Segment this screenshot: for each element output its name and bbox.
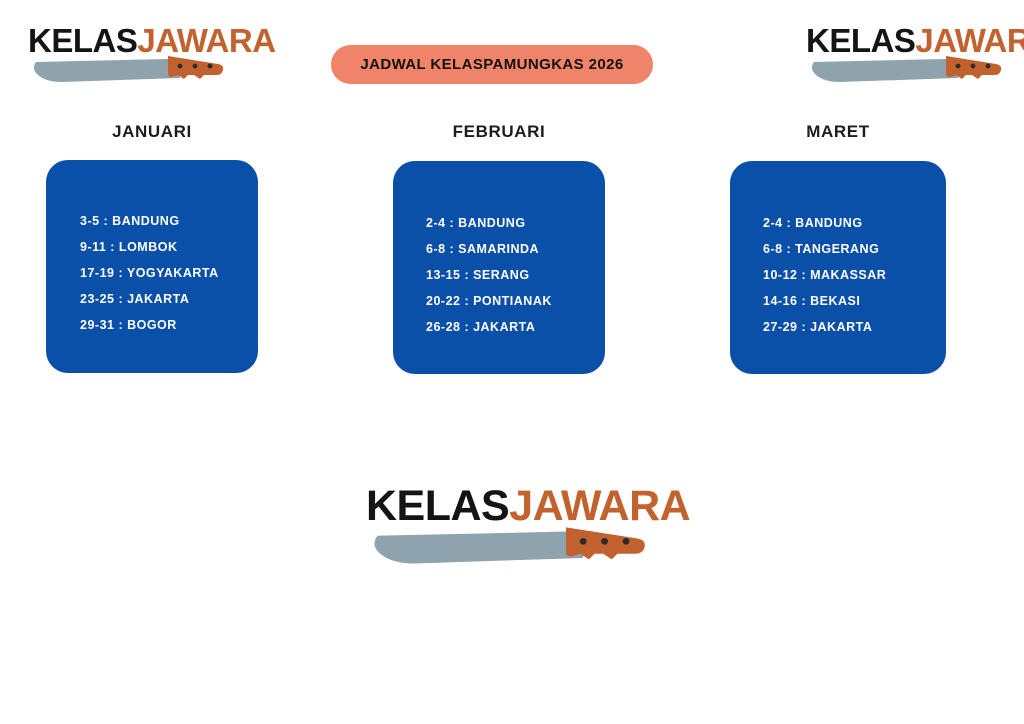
month-heading: JANUARI xyxy=(46,122,258,142)
month-column-februari: FEBRUARI 2-4 : BANDUNG 6-8 : SAMARINDA 1… xyxy=(393,122,605,374)
schedule-item: 2-4 : BANDUNG xyxy=(426,216,605,230)
logo-text-jawara: JAWARA xyxy=(915,24,1024,57)
logo-wordmark: KELASJAWARA xyxy=(28,24,276,57)
month-heading: FEBRUARI xyxy=(393,122,605,142)
schedule-item: 10-12 : MAKASSAR xyxy=(763,268,946,282)
logo-top-left: KELASJAWARA xyxy=(28,24,276,91)
schedule-item: 6-8 : SAMARINDA xyxy=(426,242,605,256)
month-column-maret: MARET 2-4 : BANDUNG 6-8 : TANGERANG 10-1… xyxy=(730,122,946,374)
page-title: JADWAL KELASPAMUNGKAS 2026 xyxy=(360,56,623,73)
schedule-item: 2-4 : BANDUNG xyxy=(763,216,946,230)
schedule-item: 13-15 : SERANG xyxy=(426,268,605,282)
logo-text-kelas: KELAS xyxy=(366,485,509,528)
logo-text-jawara: JAWARA xyxy=(137,24,275,57)
schedule-item: 14-16 : BEKASI xyxy=(763,294,946,308)
schedule-list: 2-4 : BANDUNG 6-8 : TANGERANG 10-12 : MA… xyxy=(763,216,946,334)
logo-text-kelas: KELAS xyxy=(806,24,915,57)
month-card: 2-4 : BANDUNG 6-8 : SAMARINDA 13-15 : SE… xyxy=(393,161,605,374)
schedule-item: 23-25 : JAKARTA xyxy=(80,292,258,306)
schedule-item: 17-19 : YOGYAKARTA xyxy=(80,266,258,280)
page-title-banner: JADWAL KELASPAMUNGKAS 2026 xyxy=(331,45,653,84)
logo-text-kelas: KELAS xyxy=(28,24,137,57)
logo-wordmark: KELASJAWARA xyxy=(366,485,690,528)
logo-text-jawara: JAWARA xyxy=(509,485,690,528)
month-card: 3-5 : BANDUNG 9-11 : LOMBOK 17-19 : YOGY… xyxy=(46,160,258,373)
machete-icon xyxy=(806,55,1002,91)
machete-icon xyxy=(366,526,646,576)
month-heading: MARET xyxy=(730,122,946,142)
schedule-item: 3-5 : BANDUNG xyxy=(80,214,258,228)
schedule-item: 26-28 : JAKARTA xyxy=(426,320,605,334)
schedule-list: 2-4 : BANDUNG 6-8 : SAMARINDA 13-15 : SE… xyxy=(426,216,605,334)
month-card: 2-4 : BANDUNG 6-8 : TANGERANG 10-12 : MA… xyxy=(730,161,946,374)
schedule-item: 29-31 : BOGOR xyxy=(80,318,258,332)
schedule-item: 9-11 : LOMBOK xyxy=(80,240,258,254)
machete-icon xyxy=(28,55,224,91)
logo-bottom-center: KELASJAWARA xyxy=(366,485,690,576)
logo-wordmark: KELASJAWARA xyxy=(806,24,1024,57)
logo-top-right: KELASJAWARA xyxy=(806,24,1024,91)
month-column-januari: JANUARI 3-5 : BANDUNG 9-11 : LOMBOK 17-1… xyxy=(46,122,258,373)
schedule-item: 20-22 : PONTIANAK xyxy=(426,294,605,308)
schedule-item: 27-29 : JAKARTA xyxy=(763,320,946,334)
schedule-item: 6-8 : TANGERANG xyxy=(763,242,946,256)
schedule-list: 3-5 : BANDUNG 9-11 : LOMBOK 17-19 : YOGY… xyxy=(80,214,258,332)
